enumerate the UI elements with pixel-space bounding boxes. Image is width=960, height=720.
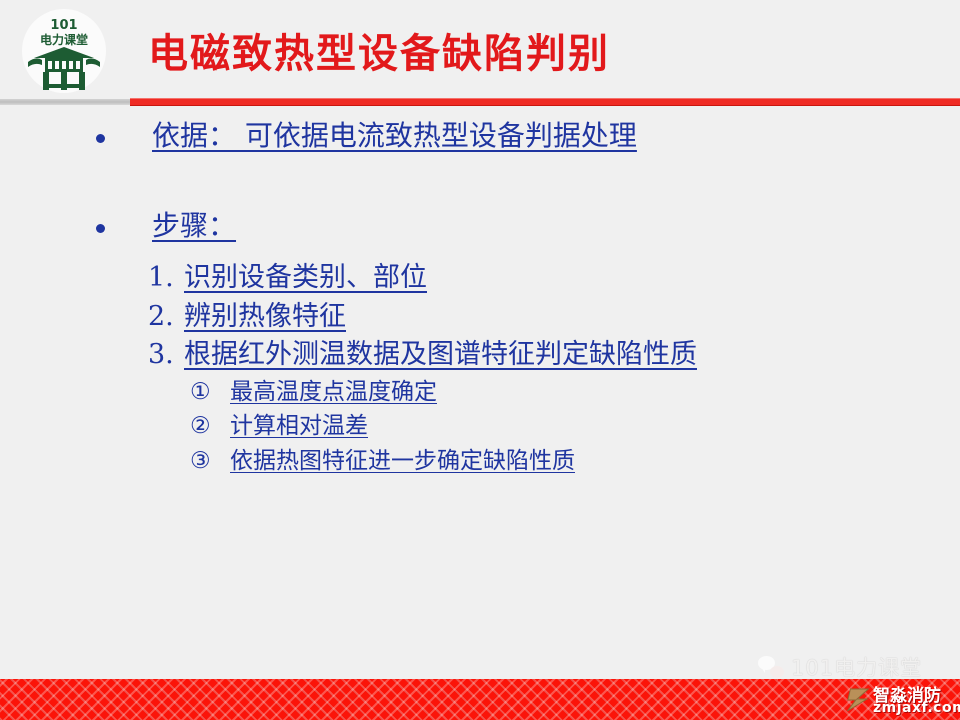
substep-number-1: ① [190, 379, 230, 407]
step-number-3: 3. [148, 339, 184, 371]
wechat-icon [758, 656, 784, 678]
wechat-watermark: 101电力课堂 [758, 652, 922, 682]
content-spacer [0, 242, 960, 256]
step-text-2: 辨别热像特征 [184, 301, 346, 333]
header-divider-gray [0, 99, 130, 105]
step-number-1: 1. [148, 262, 184, 294]
bullet-item-steps: 步骤： [0, 210, 960, 242]
substep-item-1: ① 最高温度点温度确定 [0, 379, 960, 407]
bullet-text-basis: 依据： 可依据电流致热型设备判据处理 [152, 120, 637, 152]
course-logo-icon: 101 电力课堂 [12, 6, 116, 98]
step-text-1: 识别设备类别、部位 [184, 262, 427, 294]
step-item-1: 1. 识别设备类别、部位 [0, 262, 960, 294]
slide-header: 101 电力课堂 电磁致热型设备缺陷判别 [0, 0, 960, 110]
svg-text:101: 101 [50, 18, 77, 33]
bullet-text-steps: 步骤： [152, 210, 236, 242]
site-watermark: 智淼消防 zmjaxf.com [845, 681, 955, 717]
svg-text:电力课堂: 电力课堂 [40, 32, 88, 47]
wechat-label: 101电力课堂 [791, 652, 922, 682]
bullet-dot-icon [96, 224, 105, 233]
substep-item-3: ③ 依据热图特征进一步确定缺陷性质 [0, 448, 960, 476]
substep-text-2: 计算相对温差 [230, 413, 368, 441]
step-item-3: 3. 根据红外测温数据及图谱特征判定缺陷性质 [0, 339, 960, 371]
step-number-2: 2. [148, 301, 184, 333]
substep-text-1: 最高温度点温度确定 [230, 379, 437, 407]
substep-text-3: 依据热图特征进一步确定缺陷性质 [230, 448, 575, 476]
content-spacer [0, 152, 960, 210]
watermark-url: zmjaxf.com [873, 700, 960, 716]
bullet-item-basis: 依据： 可依据电流致热型设备判据处理 [0, 120, 960, 152]
bullet-dot-icon [96, 134, 105, 143]
step-item-2: 2. 辨别热像特征 [0, 301, 960, 333]
substep-number-3: ③ [190, 448, 230, 476]
watermark-logo-icon [843, 684, 877, 714]
header-divider-red [130, 98, 960, 106]
step-text-3: 根据红外测温数据及图谱特征判定缺陷性质 [184, 339, 697, 371]
page-title: 电磁致热型设备缺陷判别 [148, 34, 610, 74]
slide-body: 依据： 可依据电流致热型设备判据处理 步骤： 1. 识别设备类别、部位 2. 辨… [0, 120, 960, 620]
substep-item-2: ② 计算相对温差 [0, 413, 960, 441]
substep-number-2: ② [190, 413, 230, 441]
slide: 101 电力课堂 电磁致热型设备缺陷判别 [0, 0, 960, 720]
footer-red-bar [0, 679, 960, 720]
